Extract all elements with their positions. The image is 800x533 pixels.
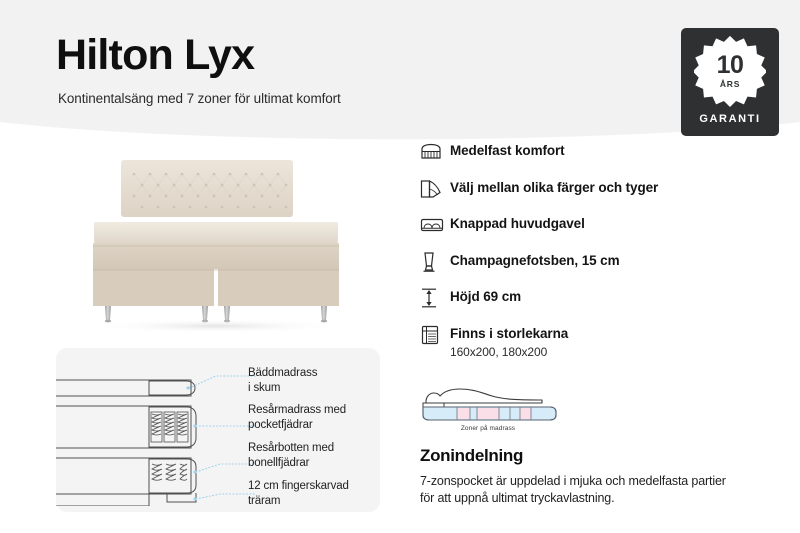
layer-label-2: Resårmadrass med pocketfjädrar bbox=[248, 403, 346, 432]
headboard-icon bbox=[420, 213, 450, 237]
page-subtitle: Kontinentalsäng med 7 zoner för ultimat … bbox=[58, 90, 341, 108]
product-info-sheet: Hilton Lyx Kontinentalsäng med 7 zoner f… bbox=[0, 0, 800, 533]
layer-label-2-line2: pocketfjädrar bbox=[248, 419, 313, 431]
layer-label-4-line2: träram bbox=[248, 495, 280, 507]
height-arrow-icon bbox=[420, 286, 450, 310]
mattress-cross-section-diagram bbox=[56, 354, 256, 506]
feature-sublabel: 160x200, 180x200 bbox=[450, 344, 568, 360]
feature-text: Finns i storlekarna 160x200, 180x200 bbox=[450, 323, 568, 360]
person-on-zoned-mattress-icon bbox=[420, 372, 560, 424]
layer-label-3-line2: bonellfjädrar bbox=[248, 457, 309, 469]
layer-label-1-line2: i skum bbox=[248, 382, 280, 394]
layer-label-4: 12 cm fingerskarvad träram bbox=[248, 479, 349, 508]
continental-bed-image bbox=[66, 142, 366, 338]
feature-text: Höjd 69 cm bbox=[450, 286, 521, 305]
feature-text: Medelfast komfort bbox=[450, 140, 565, 159]
feature-text: Knappad huvudgavel bbox=[450, 213, 585, 232]
bed-size-icon bbox=[420, 323, 450, 347]
layer-label-3: Resårbotten med bonellfjädrar bbox=[248, 441, 334, 470]
feature-label: Finns i storlekarna bbox=[450, 325, 568, 342]
feature-list: Medelfast komfort Välj mellan olika färg… bbox=[420, 140, 760, 372]
mattress-layers-card: Bäddmadrass i skum Resårmadrass med pock… bbox=[56, 348, 380, 512]
zone-figure-caption: Zoner på madrass bbox=[420, 425, 556, 432]
layer-label-2-line1: Resårmadrass med bbox=[248, 404, 346, 416]
feature-label: Knappad huvudgavel bbox=[450, 215, 585, 232]
feature-item-comfort: Medelfast komfort bbox=[420, 140, 760, 164]
bed-leg-icon bbox=[420, 250, 450, 274]
feature-item-sizes: Finns i storlekarna 160x200, 180x200 bbox=[420, 323, 760, 360]
feature-label: Champagnefotsben, 15 cm bbox=[450, 252, 620, 269]
zone-description: 7-zonspocket är uppdelad i mjuka och med… bbox=[420, 473, 740, 507]
feature-item-headboard: Knappad huvudgavel bbox=[420, 213, 760, 237]
starburst-badge-icon: 10 ÅRS bbox=[694, 35, 766, 107]
zone-heading: Zonindelning bbox=[420, 446, 760, 466]
mattress-firmness-icon bbox=[420, 140, 450, 164]
layer-label-4-line1: 12 cm fingerskarvad bbox=[248, 480, 349, 492]
feature-item-height: Höjd 69 cm bbox=[420, 286, 760, 310]
layer-label-3-line1: Resårbotten med bbox=[248, 442, 334, 454]
zone-section: Zoner på madrass Zonindelning 7-zonspock… bbox=[420, 372, 760, 507]
feature-label: Höjd 69 cm bbox=[450, 288, 521, 305]
feature-item-fabrics: Välj mellan olika färger och tyger bbox=[420, 177, 760, 201]
warranty-years-label: ÅRS bbox=[694, 79, 766, 89]
layer-label-1: Bäddmadrass i skum bbox=[248, 366, 317, 395]
feature-label: Välj mellan olika färger och tyger bbox=[450, 179, 658, 196]
warranty-text: GARANTI bbox=[699, 113, 760, 125]
feature-text: Välj mellan olika färger och tyger bbox=[450, 177, 658, 196]
warranty-number: 10 bbox=[694, 53, 766, 78]
page-title: Hilton Lyx bbox=[56, 30, 254, 80]
layer-label-1-line1: Bäddmadrass bbox=[248, 367, 317, 379]
warranty-badge: 10 ÅRS GARANTI bbox=[681, 28, 779, 136]
fabric-swatches-icon bbox=[420, 177, 450, 201]
feature-label: Medelfast komfort bbox=[450, 142, 565, 159]
feature-text: Champagnefotsben, 15 cm bbox=[450, 250, 620, 269]
feature-item-legs: Champagnefotsben, 15 cm bbox=[420, 250, 760, 274]
